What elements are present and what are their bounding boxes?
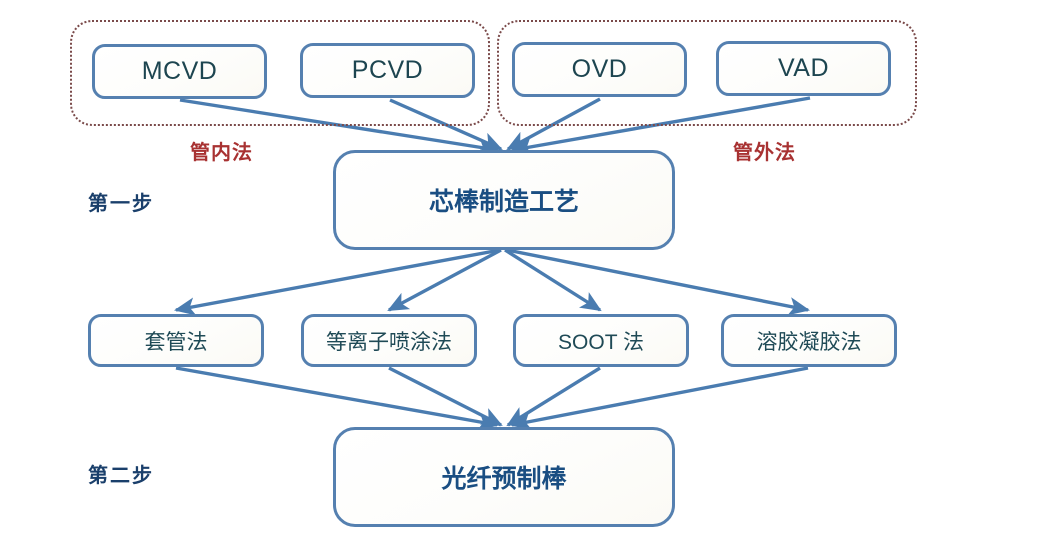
arrow-core-to-soot xyxy=(505,250,600,310)
node-sol-gel-method[interactable]: 溶胶凝胶法 xyxy=(721,314,897,367)
node-mcvd-label: MCVD xyxy=(142,57,218,86)
node-sleeve-method[interactable]: 套管法 xyxy=(88,314,264,367)
step-label-two: 第二步 xyxy=(88,459,154,488)
node-core-rod-process[interactable]: 芯棒制造工艺 xyxy=(333,150,675,250)
node-soot-method[interactable]: SOOT 法 xyxy=(513,314,689,367)
node-ovd-label: OVD xyxy=(572,55,628,84)
node-soot-method-label: SOOT 法 xyxy=(558,326,644,356)
node-sleeve-method-label: 套管法 xyxy=(145,326,208,356)
arrow-core-to-solgel xyxy=(507,250,808,310)
arrow-sleeve-to-preform xyxy=(176,368,497,425)
node-fiber-preform[interactable]: 光纤预制棒 xyxy=(333,427,675,527)
diagram-canvas: MCVD PCVD OVD VAD 管内法 管外法 第一步 第二步 芯棒制造工艺… xyxy=(0,0,1039,551)
node-plasma-spray-method-label: 等离子喷涂法 xyxy=(326,326,452,356)
node-mcvd[interactable]: MCVD xyxy=(92,44,267,99)
group-label-inner-tube: 管内法 xyxy=(190,136,253,165)
node-core-rod-process-label: 芯棒制造工艺 xyxy=(429,182,579,218)
node-sol-gel-method-label: 溶胶凝胶法 xyxy=(757,326,862,356)
node-fiber-preform-label: 光纤预制棒 xyxy=(441,459,566,495)
arrow-core-to-sleeve xyxy=(176,250,500,310)
arrow-solgel-to-preform xyxy=(512,368,808,425)
node-pcvd[interactable]: PCVD xyxy=(300,43,475,98)
arrow-plasma-to-preform xyxy=(389,368,501,425)
node-pcvd-label: PCVD xyxy=(352,56,423,85)
arrow-core-to-plasma xyxy=(389,250,501,310)
group-label-outer-tube: 管外法 xyxy=(733,136,796,165)
node-vad-label: VAD xyxy=(778,54,829,83)
node-plasma-spray-method[interactable]: 等离子喷涂法 xyxy=(301,314,477,367)
arrow-soot-to-preform xyxy=(508,368,600,425)
node-ovd[interactable]: OVD xyxy=(512,42,687,97)
node-vad[interactable]: VAD xyxy=(716,41,891,96)
step-label-one: 第一步 xyxy=(88,187,154,216)
